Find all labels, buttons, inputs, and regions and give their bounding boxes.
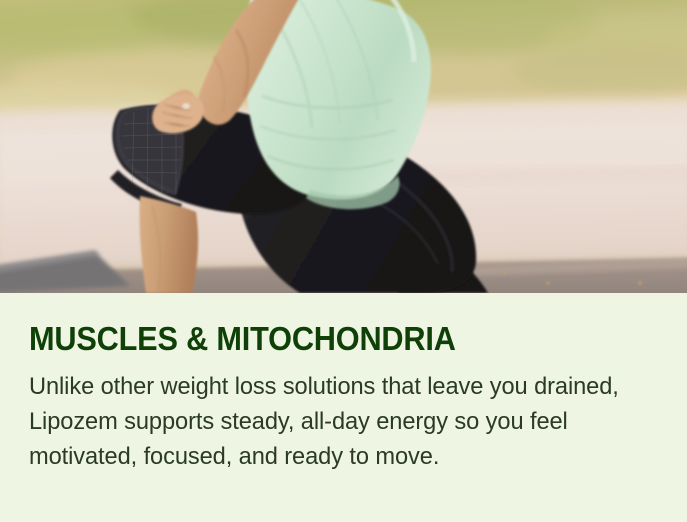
page-title: MUSCLES & MITOCHONDRIA	[29, 320, 623, 358]
feature-card: MUSCLES & MITOCHONDRIA Unlike other weig…	[0, 0, 687, 522]
content-panel: MUSCLES & MITOCHONDRIA Unlike other weig…	[0, 293, 687, 522]
hero-photo	[0, 0, 687, 293]
body-text: Unlike other weight loss solutions that …	[29, 369, 646, 474]
hero-photo-illustration	[0, 0, 687, 293]
